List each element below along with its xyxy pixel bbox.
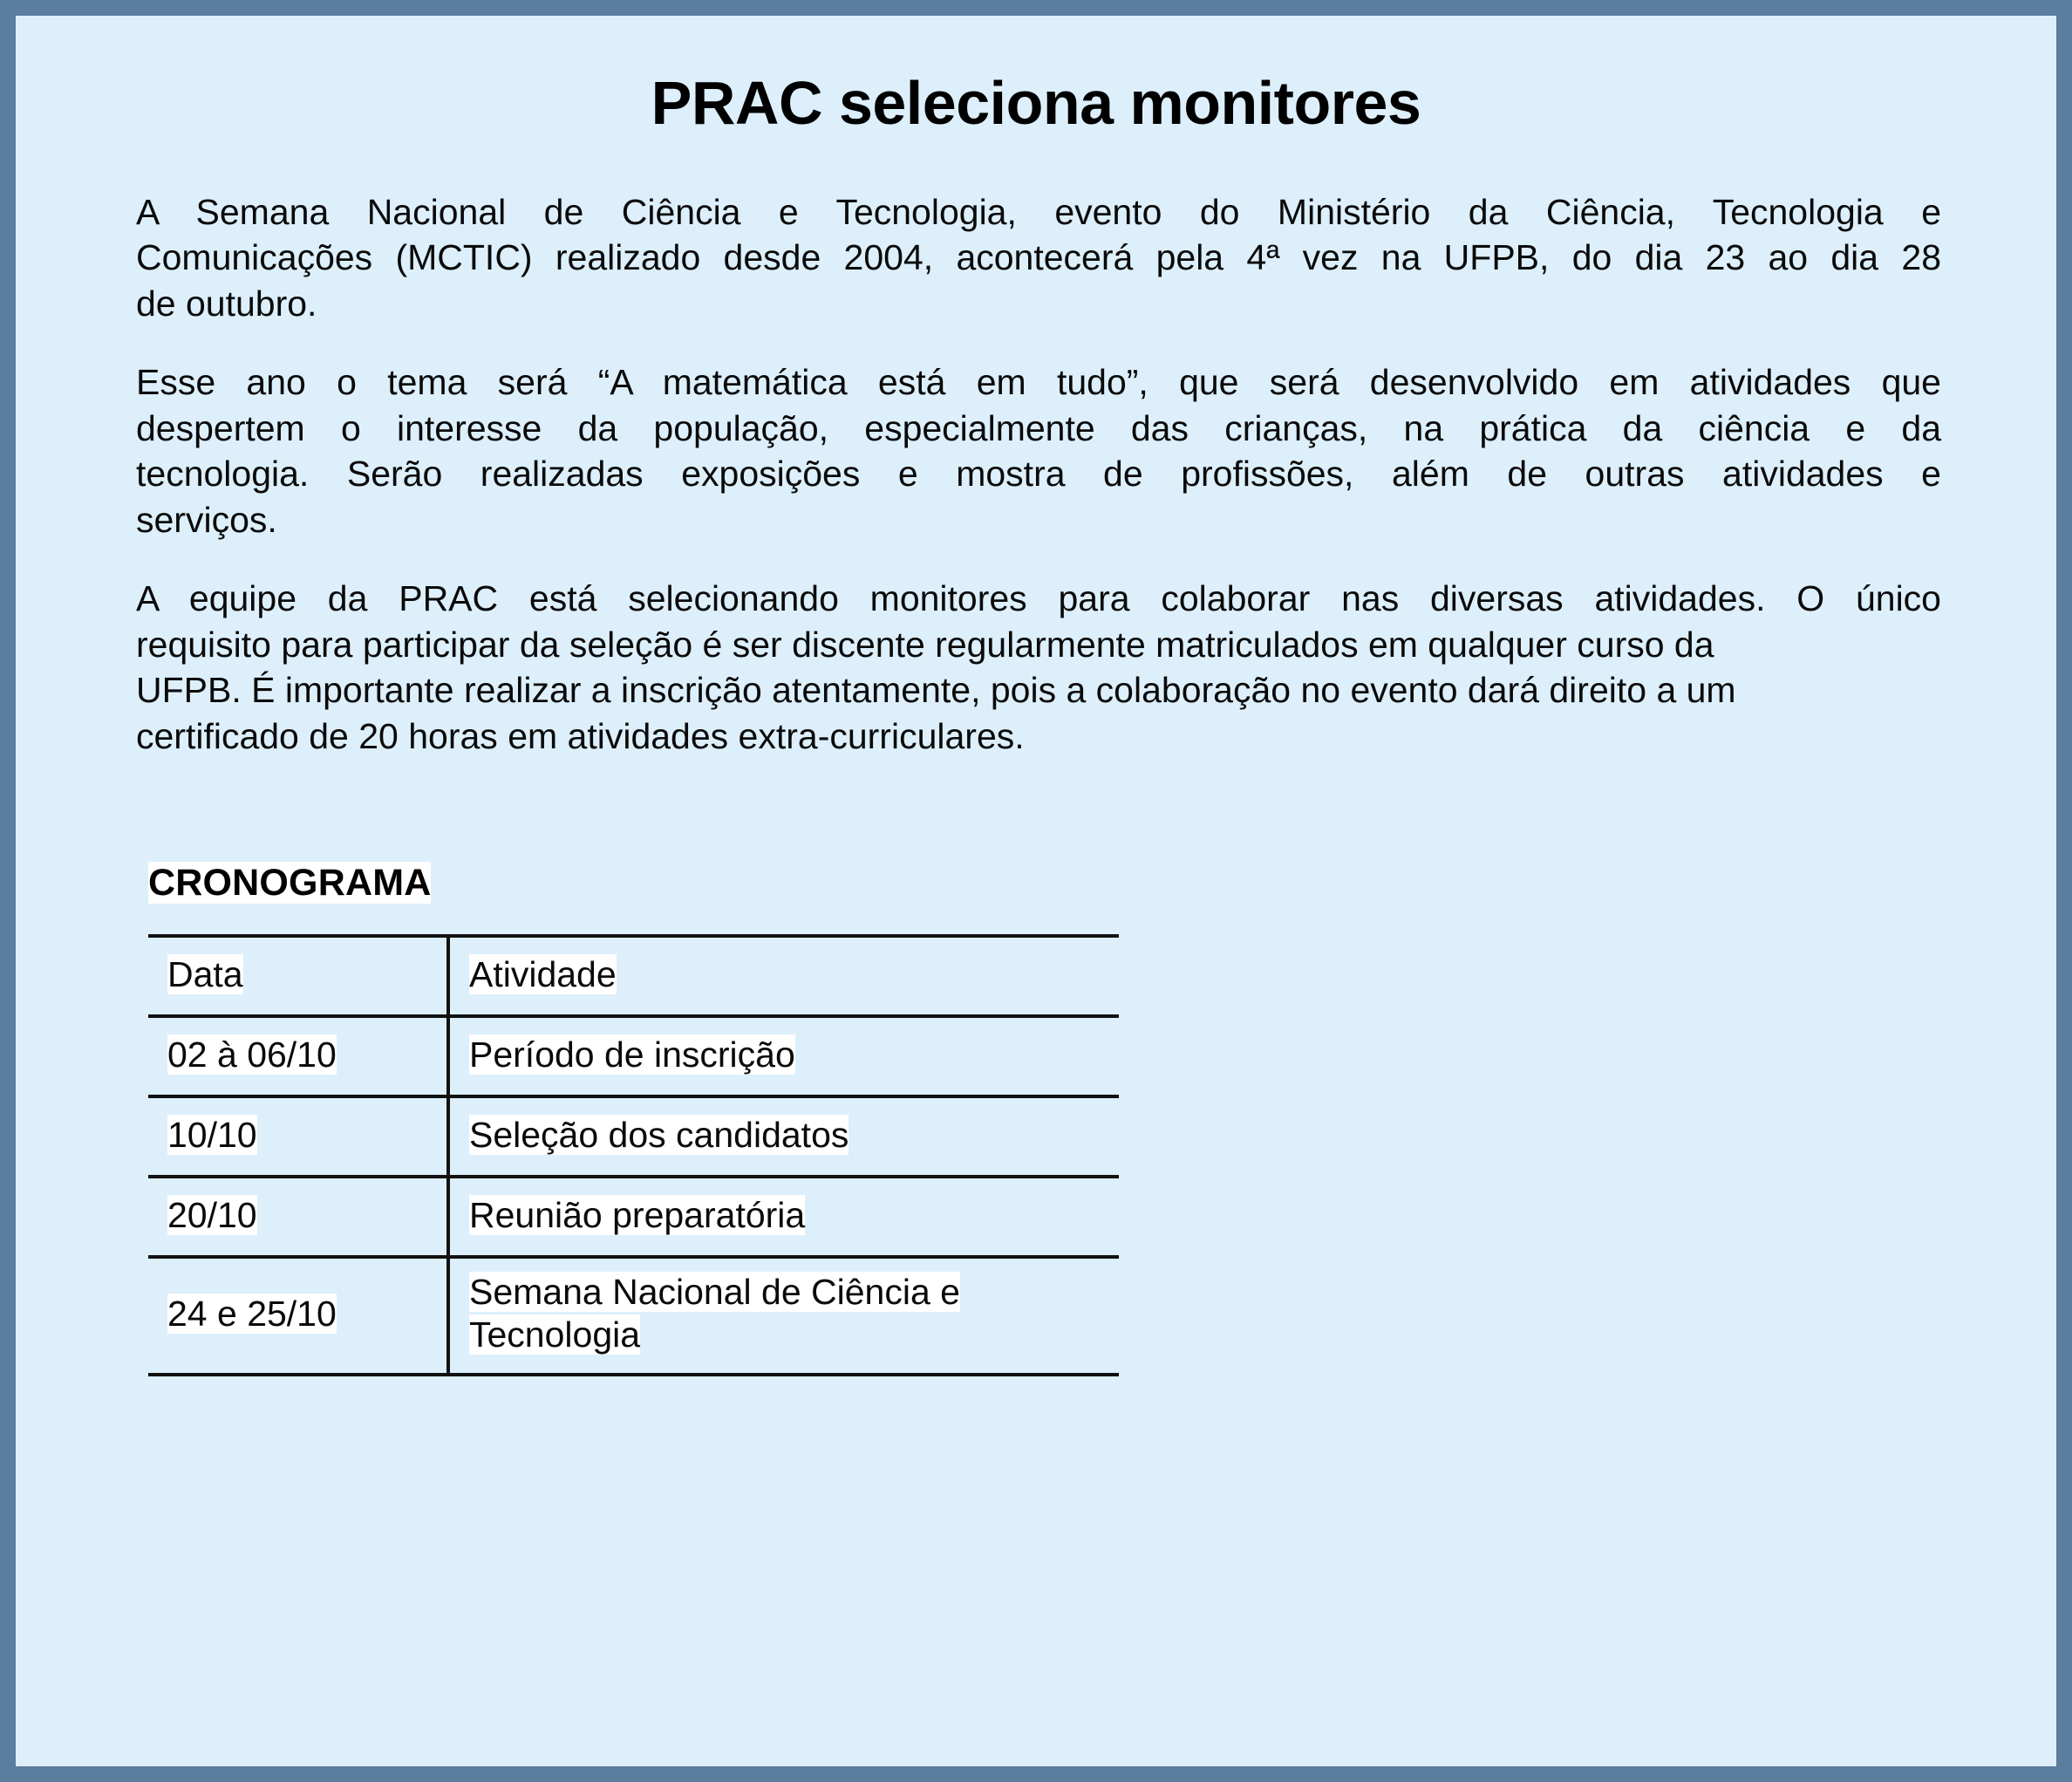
table-cell-date-text: 24 e 25/10 <box>167 1294 337 1334</box>
paragraph-3-line-4: certificado de 20 horas em atividades ex… <box>136 713 1941 759</box>
paragraph-2-line-4: serviços. <box>136 497 1941 543</box>
table-cell-activity-text: Período de inscrição <box>469 1034 795 1075</box>
schedule-table: Data Atividade 02 à 06/10 Período de ins… <box>148 934 1119 1376</box>
table-cell-date: 10/10 <box>148 1096 448 1177</box>
paragraph-2-line-1: Esse ano o tema será “A matemática está … <box>136 359 1941 405</box>
document-page: PRAC seleciona monitores A Semana Nacion… <box>16 16 2056 1766</box>
paragraph-2: Esse ano o tema será “A matemática está … <box>136 359 1941 543</box>
table-row: 02 à 06/10 Período de inscrição <box>148 1016 1119 1096</box>
paragraph-3-line-1: A equipe da PRAC está selecionando monit… <box>136 576 1941 621</box>
paragraph-3-line-3: UFPB. É importante realizar a inscrição … <box>136 667 1941 713</box>
schedule-section: CRONOGRAMA <box>16 862 2056 905</box>
table-cell-date-text: 02 à 06/10 <box>167 1034 337 1075</box>
table-cell-activity: Seleção dos candidatos <box>448 1096 1119 1177</box>
table-cell-activity: Semana Nacional de Ciência e Tecnologia <box>448 1257 1119 1374</box>
schedule-heading: CRONOGRAMA <box>148 862 431 904</box>
paragraph-3-line-2: requisito para participar da seleção é s… <box>136 622 1941 667</box>
paragraph-2-line-2: despertem o interesse da população, espe… <box>136 406 1941 451</box>
document-body: A Semana Nacional de Ciência e Tecnologi… <box>16 189 2056 759</box>
table-cell-date: 02 à 06/10 <box>148 1016 448 1096</box>
table-row: 10/10 Seleção dos candidatos <box>148 1096 1119 1177</box>
table-cell-date: 24 e 25/10 <box>148 1257 448 1374</box>
table-header-cell-atividade: Atividade <box>448 936 1119 1016</box>
table-header-row: Data Atividade <box>148 936 1119 1016</box>
table-header-label-data: Data <box>167 954 243 994</box>
paragraph-2-line-3: tecnologia. Serão realizadas exposições … <box>136 451 1941 496</box>
document-border-frame: PRAC seleciona monitores A Semana Nacion… <box>0 0 2072 1782</box>
table-cell-activity: Período de inscrição <box>448 1016 1119 1096</box>
table-cell-activity: Reunião preparatória <box>448 1177 1119 1257</box>
table-cell-activity-text: Reunião preparatória <box>469 1195 805 1235</box>
schedule-table-wrapper: Data Atividade 02 à 06/10 Período de ins… <box>16 934 2056 1376</box>
paragraph-1-line-3: de outubro. <box>136 281 1941 326</box>
table-header-cell-data: Data <box>148 936 448 1016</box>
table-cell-date-text: 20/10 <box>167 1195 257 1235</box>
paragraph-1: A Semana Nacional de Ciência e Tecnologi… <box>136 189 1941 326</box>
table-header-label-atividade: Atividade <box>469 954 617 994</box>
table-cell-activity-text: Semana Nacional de Ciência e Tecnologia <box>469 1272 960 1355</box>
paragraph-3: A equipe da PRAC está selecionando monit… <box>136 576 1941 759</box>
table-row: 20/10 Reunião preparatória <box>148 1177 1119 1257</box>
page-title: PRAC seleciona monitores <box>16 16 2056 137</box>
table-row: 24 e 25/10 Semana Nacional de Ciência e … <box>148 1257 1119 1374</box>
table-cell-date-text: 10/10 <box>167 1115 257 1155</box>
paragraph-1-line-1: A Semana Nacional de Ciência e Tecnologi… <box>136 189 1941 235</box>
table-cell-activity-text: Seleção dos candidatos <box>469 1115 849 1155</box>
paragraph-1-line-2: Comunicações (MCTIC) realizado desde 200… <box>136 235 1941 280</box>
table-cell-date: 20/10 <box>148 1177 448 1257</box>
